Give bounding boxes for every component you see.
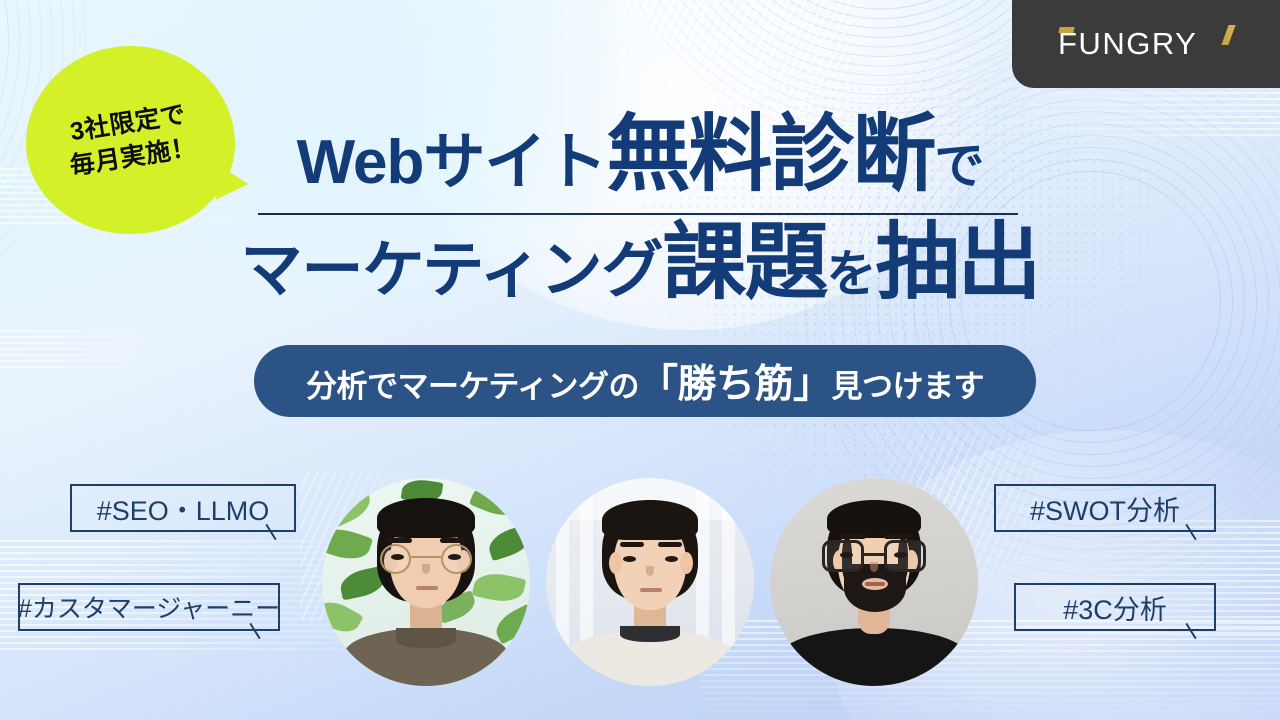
logo-wordmark: FUNGRY — [1058, 24, 1197, 64]
promo-badge: 3社限定で 毎月実施！ — [26, 46, 235, 234]
headline-line1-seg3: で — [934, 141, 983, 191]
headline-line1-seg1: Webサイト — [297, 132, 607, 194]
tag-3c-analysis-label: #3C分析 — [1063, 588, 1167, 627]
tag-customer-journey[interactable]: #カスタマージャーニー — [18, 583, 280, 631]
fungry-logo-box[interactable]: FUNGRY — [1012, 0, 1280, 88]
headline-line2-seg1: マーケティング — [240, 240, 662, 302]
logo-accent-y-icon — [1221, 25, 1235, 45]
tag-tail-icon — [1185, 623, 1196, 639]
subtitle-seg2: 「勝ち筋」 — [639, 353, 832, 409]
subtitle-seg3: 見つけます — [832, 361, 985, 406]
tag-tail-icon — [1185, 524, 1196, 540]
portrait-member-3 — [770, 478, 978, 686]
tag-swot-analysis[interactable]: #SWOT分析 — [994, 484, 1216, 532]
headline-divider — [258, 213, 1018, 215]
subtitle-seg1: 分析でマーケティングの — [306, 361, 639, 406]
headline-line1-seg2: 無料診断 — [606, 112, 934, 196]
headline-line2-seg3: を — [827, 249, 876, 299]
headline-line2-seg2: 課題 — [663, 220, 827, 304]
subtitle-pill: 分析でマーケティングの 「勝ち筋」 見つけます — [254, 345, 1036, 417]
tag-seo-llmo-label: #SEO・LLMO — [97, 489, 270, 528]
tag-tail-icon — [249, 623, 260, 639]
tag-swot-analysis-label: #SWOT分析 — [1030, 489, 1180, 528]
background-stripes-left-mid — [0, 330, 170, 370]
tag-customer-journey-label: #カスタマージャーニー — [18, 589, 280, 625]
tag-seo-llmo[interactable]: #SEO・LLMO — [70, 484, 296, 532]
portrait-member-2 — [546, 478, 754, 686]
portrait-3-tshirt — [780, 628, 968, 686]
promo-badge-text: 3社限定で 毎月実施！ — [13, 31, 249, 249]
subtitle-text: 分析でマーケティングの 「勝ち筋」 見つけます — [306, 353, 984, 409]
campaign-banner: FUNGRY 3社限定で 毎月実施！ Webサイト 無料診断 で マーケティング… — [0, 0, 1280, 720]
tag-3c-analysis[interactable]: #3C分析 — [1014, 583, 1216, 631]
portrait-member-1 — [322, 478, 530, 686]
fungry-logo-mark: FUNGRY — [1058, 24, 1234, 64]
headline-line2-seg4: 抽出 — [876, 220, 1040, 304]
tag-tail-icon — [265, 524, 276, 540]
